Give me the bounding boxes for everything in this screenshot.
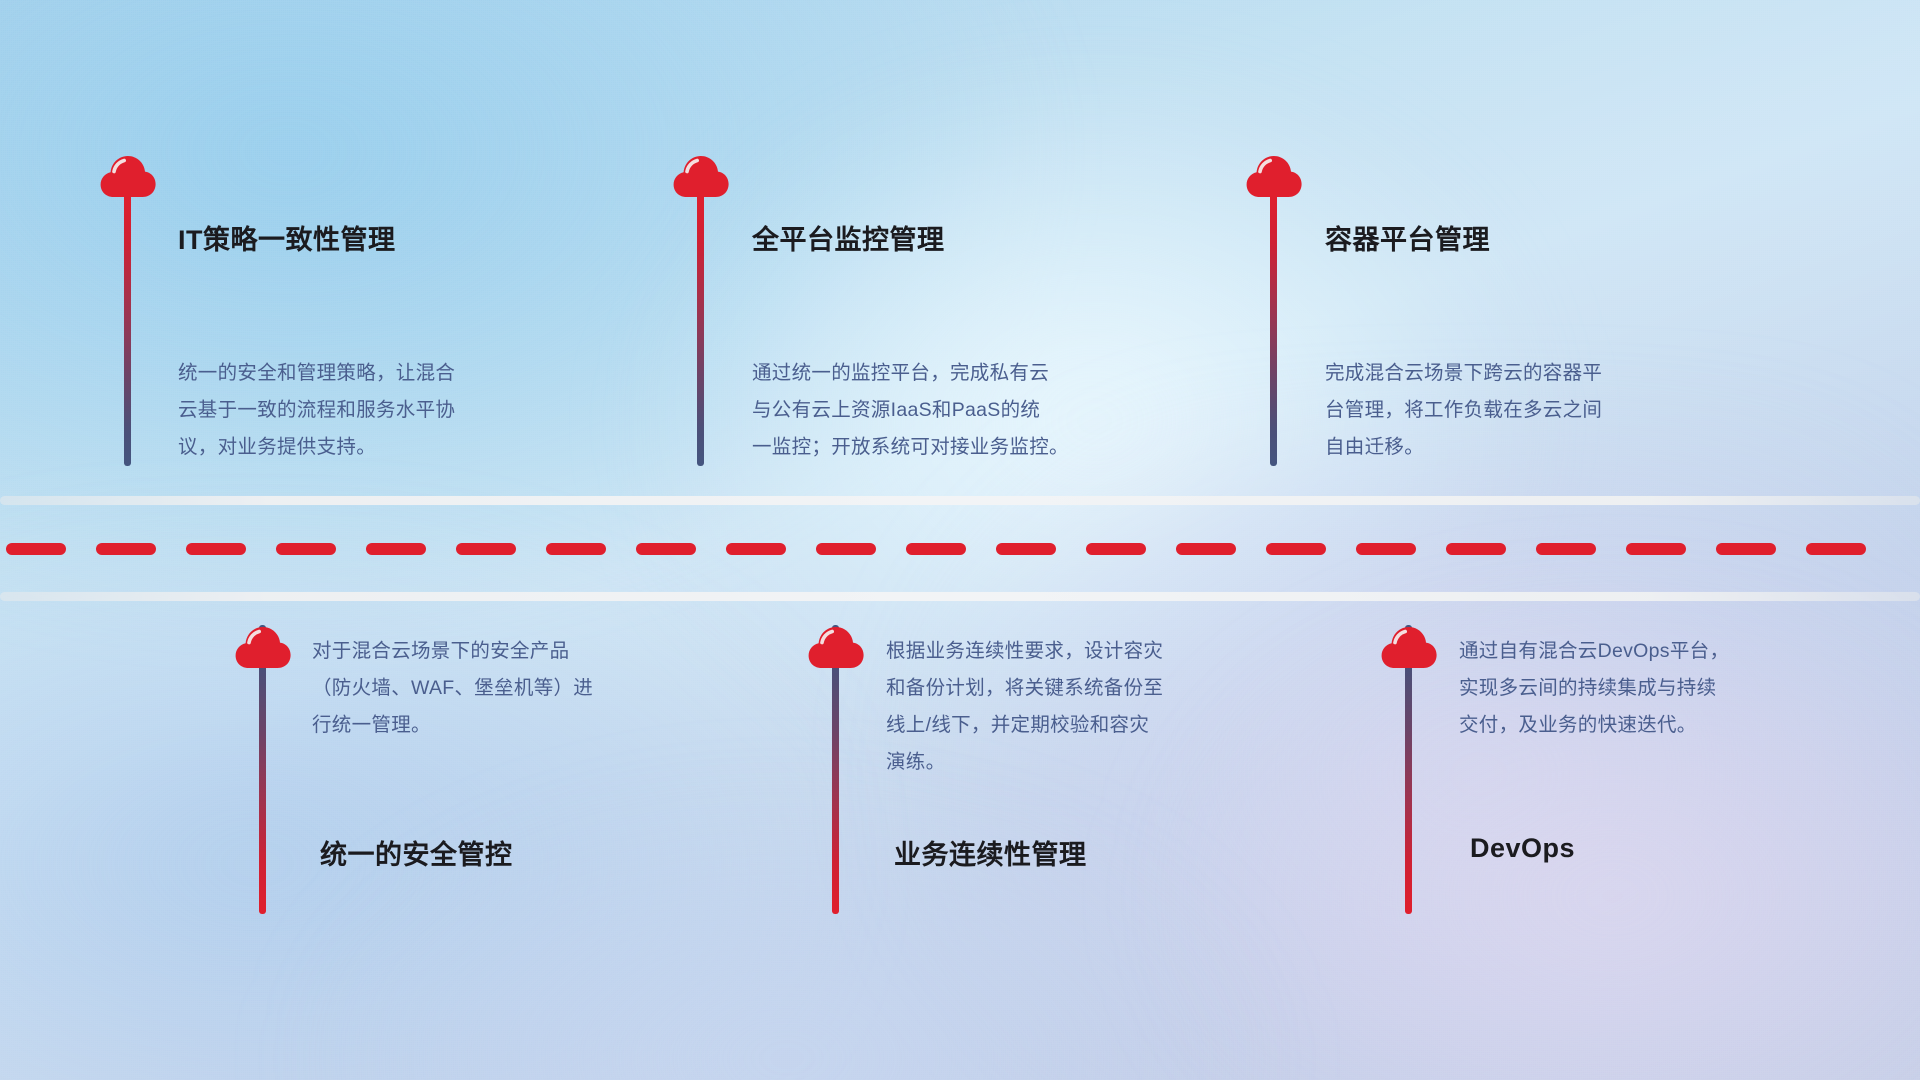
divider-dash [1536, 543, 1596, 555]
desc-line: 与公有云上资源IaaS和PaaS的统 [752, 392, 1097, 429]
top-pin-3-description: 完成混合云场景下跨云的容器平 台管理，将工作负载在多云之间 自由迁移。 [1325, 355, 1670, 466]
divider-dash [1266, 543, 1326, 555]
cloud-icon [1380, 623, 1438, 669]
divider-dash [276, 543, 336, 555]
bottom-pin-1-description: 对于混合云场景下的安全产品 （防火墙、WAF、堡垒机等）进 行统一管理。 [312, 633, 657, 744]
desc-line: 演练。 [886, 744, 1231, 781]
desc-line: 行统一管理。 [312, 707, 657, 744]
bottom-pin-3-title: DevOps [1470, 833, 1575, 864]
divider-dash [636, 543, 696, 555]
desc-line: 台管理，将工作负载在多云之间 [1325, 392, 1670, 429]
divider-dash [366, 543, 426, 555]
cloud-icon [99, 152, 157, 198]
divider-dash [456, 543, 516, 555]
top-pin-1-description: 统一的安全和管理策略，让混合 云基于一致的流程和服务水平协 议，对业务提供支持。 [178, 355, 523, 466]
pin-stem [124, 194, 131, 466]
top-pin-2-description: 通过统一的监控平台，完成私有云 与公有云上资源IaaS和PaaS的统 一监控；开… [752, 355, 1097, 466]
bottom-pin-1-title: 统一的安全管控 [320, 833, 513, 872]
divider-dash [1626, 543, 1686, 555]
desc-line: 统一的安全和管理策略，让混合 [178, 355, 523, 392]
desc-line: 实现多云间的持续集成与持续 [1459, 670, 1804, 707]
divider-dash [186, 543, 246, 555]
divider-dash [726, 543, 786, 555]
divider-dash [996, 543, 1056, 555]
desc-line: 线上/线下，并定期校验和容灾 [886, 707, 1231, 744]
cloud-icon [807, 623, 865, 669]
cloud-icon [1245, 152, 1303, 198]
bottom-pin-3-description: 通过自有混合云DevOps平台， 实现多云间的持续集成与持续 交付，及业务的快速… [1459, 633, 1804, 744]
desc-line: 一监控；开放系统可对接业务监控。 [752, 429, 1097, 466]
divider-dash [1086, 543, 1146, 555]
divider-line-upper [0, 496, 1920, 505]
desc-line: 对于混合云场景下的安全产品 [312, 633, 657, 670]
desc-line: 通过自有混合云DevOps平台， [1459, 633, 1804, 670]
divider-dash [1446, 543, 1506, 555]
bottom-pin-2-description: 根据业务连续性要求，设计容灾 和备份计划，将关键系统备份至 线上/线下，并定期校… [886, 633, 1231, 781]
cloud-icon [234, 623, 292, 669]
divider-dash [1176, 543, 1236, 555]
desc-line: 自由迁移。 [1325, 429, 1670, 466]
top-pin-2-title: 全平台监控管理 [752, 218, 945, 257]
divider-dash [6, 543, 66, 555]
top-pin-1-title: IT策略一致性管理 [178, 218, 396, 257]
infographic-canvas: IT策略一致性管理 统一的安全和管理策略，让混合 云基于一致的流程和服务水平协 … [0, 0, 1920, 1080]
divider-dash [1356, 543, 1416, 555]
desc-line: 云基于一致的流程和服务水平协 [178, 392, 523, 429]
desc-line: 和备份计划，将关键系统备份至 [886, 670, 1231, 707]
divider-line-lower [0, 592, 1920, 601]
background-texture [0, 0, 1920, 1080]
desc-line: 完成混合云场景下跨云的容器平 [1325, 355, 1670, 392]
desc-line: 议，对业务提供支持。 [178, 429, 523, 466]
desc-line: 根据业务连续性要求，设计容灾 [886, 633, 1231, 670]
cloud-icon [672, 152, 730, 198]
desc-line: （防火墙、WAF、堡垒机等）进 [312, 670, 657, 707]
divider-dash [1806, 543, 1866, 555]
divider-dash [96, 543, 156, 555]
pin-stem [697, 194, 704, 466]
divider-dash [816, 543, 876, 555]
desc-line: 通过统一的监控平台，完成私有云 [752, 355, 1097, 392]
divider-dashed-line [0, 543, 1920, 555]
top-pin-3-title: 容器平台管理 [1325, 218, 1490, 257]
desc-line: 交付，及业务的快速迭代。 [1459, 707, 1804, 744]
divider-dash [906, 543, 966, 555]
divider-dash [1716, 543, 1776, 555]
divider-dash [546, 543, 606, 555]
bottom-pin-2-title: 业务连续性管理 [894, 833, 1087, 872]
pin-stem [1270, 194, 1277, 466]
